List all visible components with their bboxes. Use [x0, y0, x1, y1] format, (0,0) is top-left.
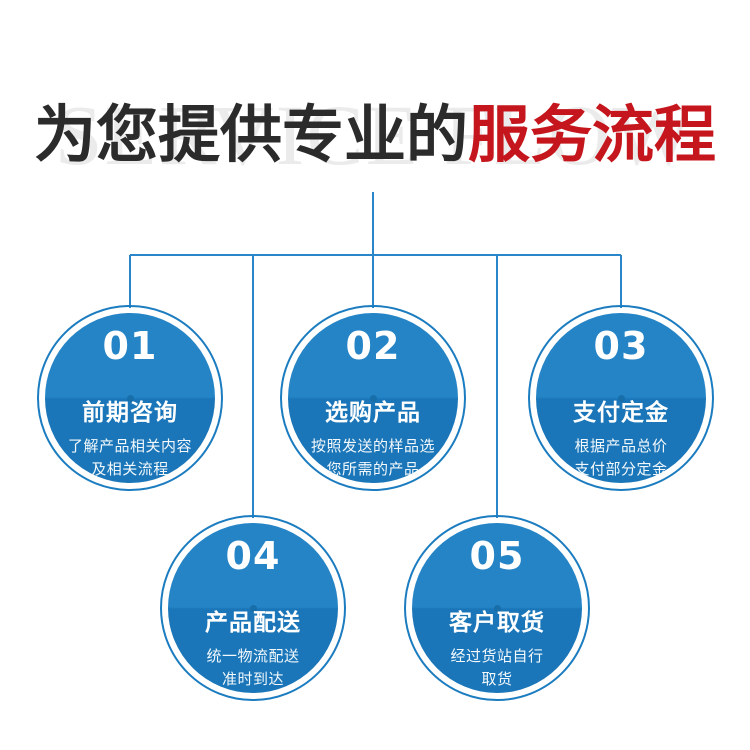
node-title: 支付定金 — [528, 402, 714, 425]
node-desc-line-1: 经过货站自行 — [407, 645, 587, 668]
node-title: 前期咨询 — [37, 402, 223, 425]
page-header: SERVICE FLOW 为您提供专业的服务流程 — [0, 78, 750, 193]
node-description: 了解产品相关内容 及相关流程 — [40, 435, 220, 480]
flow-node-05[interactable]: 05 客户取货 经过货站自行 取货 — [404, 515, 590, 701]
node-desc-line-1: 统一物流配送 — [163, 645, 343, 668]
node-title: 选购产品 — [280, 402, 466, 425]
node-description: 按照发送的样品选 您所需的产品 — [283, 435, 463, 480]
node-number: 01 — [37, 327, 223, 365]
node-description: 根据产品总价 支付部分定金 — [531, 435, 711, 480]
flow-node-01[interactable]: 01 前期咨询 了解产品相关内容 及相关流程 — [37, 305, 223, 491]
node-title: 产品配送 — [160, 612, 346, 635]
flow-node-03[interactable]: 03 支付定金 根据产品总价 支付部分定金 — [528, 305, 714, 491]
node-desc-line-2: 准时到达 — [163, 668, 343, 691]
flow-node-02[interactable]: 02 选购产品 按照发送的样品选 您所需的产品 — [280, 305, 466, 491]
node-description: 经过货站自行 取货 — [407, 645, 587, 690]
node-description: 统一物流配送 准时到达 — [163, 645, 343, 690]
node-desc-line-2: 您所需的产品 — [283, 458, 463, 481]
node-desc-line-2: 支付部分定金 — [531, 458, 711, 481]
node-number: 05 — [404, 537, 590, 575]
node-number: 04 — [160, 537, 346, 575]
node-title: 客户取货 — [404, 612, 590, 635]
node-number: 03 — [528, 327, 714, 365]
service-flow-infographic: SERVICE FLOW 为您提供专业的服务流程 01 前期咨询 了解产品相关内… — [0, 0, 750, 750]
page-title-primary: 为您提供专业的 — [34, 98, 468, 171]
page-title: 为您提供专业的服务流程 — [0, 92, 750, 178]
node-desc-line-1: 按照发送的样品选 — [283, 435, 463, 458]
node-desc-line-1: 根据产品总价 — [531, 435, 711, 458]
page-title-highlight: 服务流程 — [468, 98, 716, 171]
flow-node-04[interactable]: 04 产品配送 统一物流配送 准时到达 — [160, 515, 346, 701]
node-desc-line-2: 取货 — [407, 668, 587, 691]
node-desc-line-1: 了解产品相关内容 — [40, 435, 220, 458]
node-desc-line-2: 及相关流程 — [40, 458, 220, 481]
node-number: 02 — [280, 327, 466, 365]
